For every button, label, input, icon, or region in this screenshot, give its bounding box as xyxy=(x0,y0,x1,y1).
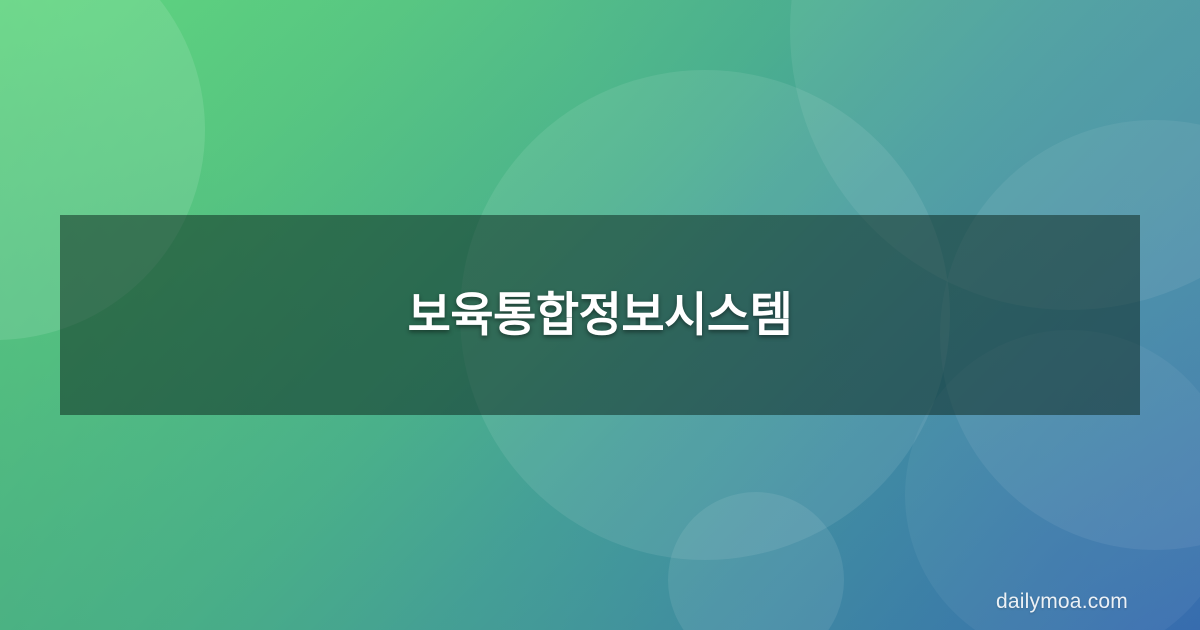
social-share-card: 보육통합정보시스템 dailymoa.com xyxy=(0,0,1200,630)
site-watermark: dailymoa.com xyxy=(996,591,1128,612)
title-band: 보육통합정보시스템 xyxy=(60,215,1140,415)
page-title: 보육통합정보시스템 xyxy=(408,287,793,343)
